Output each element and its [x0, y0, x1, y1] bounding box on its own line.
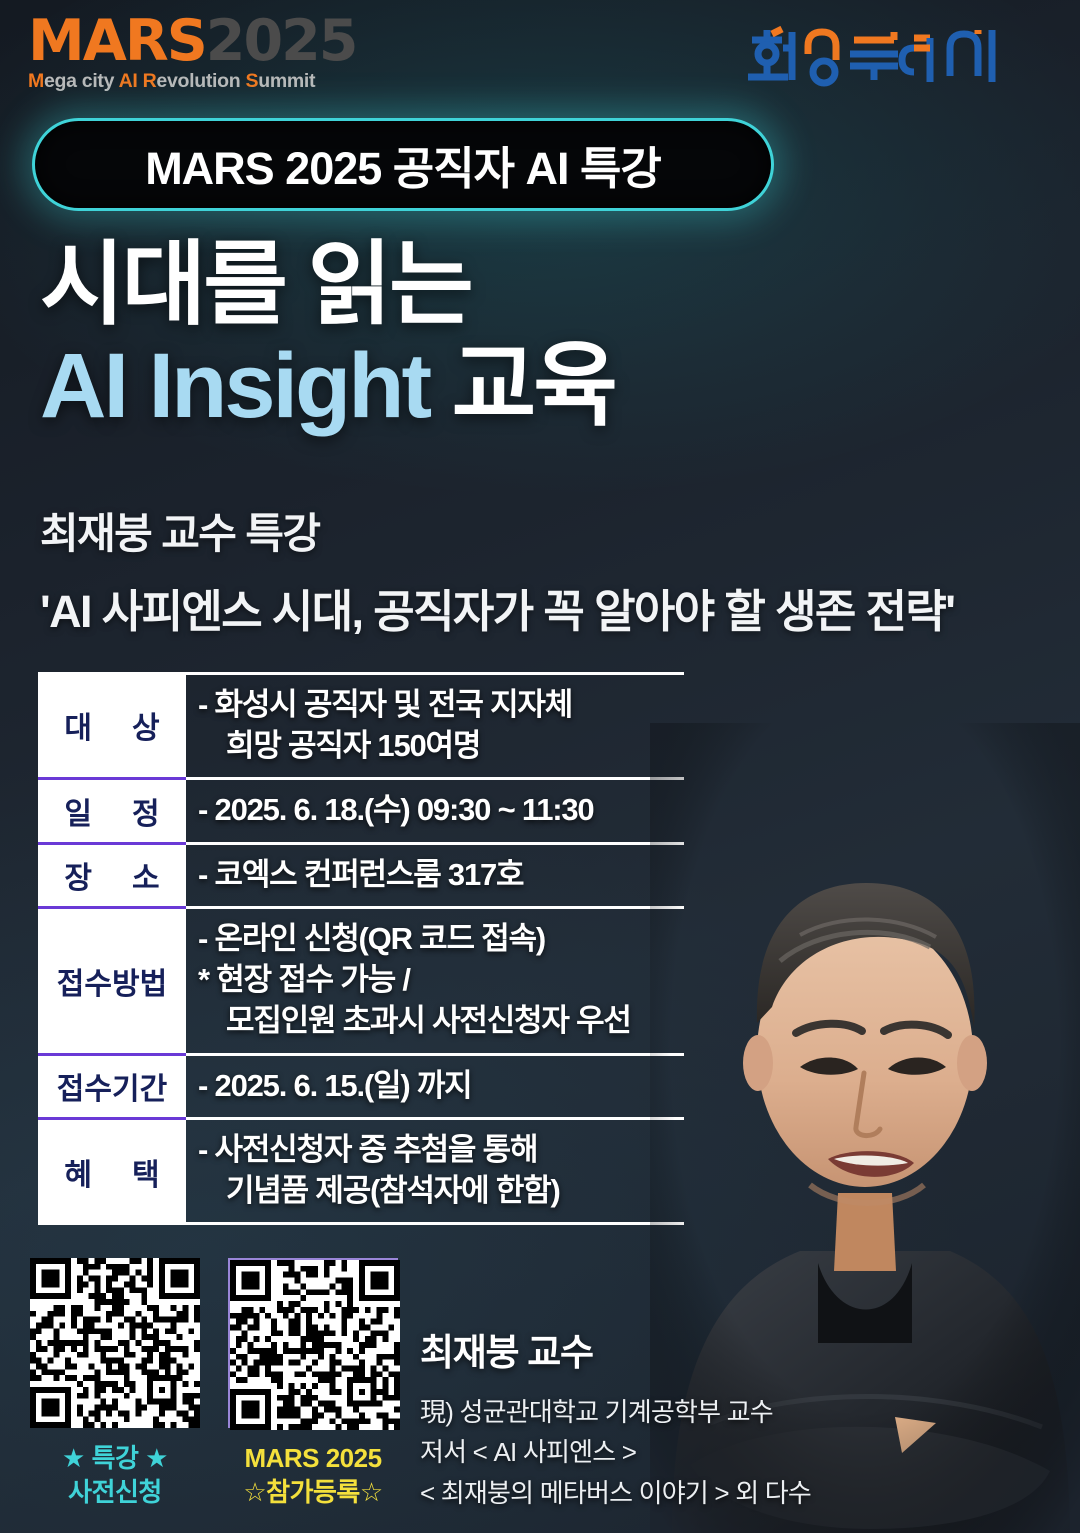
- poster-root: MARS2025 Mega city AI Revolution Summit: [0, 0, 1080, 1533]
- mars-logo-tagline: Mega city AI Revolution Summit: [28, 70, 356, 93]
- qr-caption-line-1: ★ 특강 ★: [62, 1441, 168, 1475]
- label-char-right: 상: [132, 703, 160, 747]
- event-title-badge: MARS 2025 공직자 AI 특강: [32, 118, 774, 211]
- event-info-row: 장소- 코엑스 컨퍼런스룸 317호: [38, 845, 684, 909]
- headline-line-1: 시대를 읽는: [40, 236, 940, 335]
- headline: 시대를 읽는 AI Insight 교육: [40, 236, 940, 437]
- mars2025-participation-qr-item: MARS 2025☆참가등록☆: [228, 1258, 398, 1510]
- event-info-value-line: - 화성시 공직자 및 전국 지자체: [198, 684, 684, 725]
- event-info-row-value: - 사전신청자 중 추첨을 통해기념품 제공(참석자에 한함): [186, 1120, 684, 1225]
- label-char-left: 일: [64, 789, 92, 833]
- mars-logo: MARS2025 Mega city AI Revolution Summit: [28, 14, 356, 93]
- event-info-row-label: 일정: [38, 780, 186, 844]
- subtitle-line-2: 'AI 사피엔스 시대, 공직자가 꼭 알아야 할 생존 전략': [40, 575, 1060, 640]
- label-char-right: 소: [132, 853, 160, 897]
- label-char-left: 혜: [64, 1150, 92, 1194]
- event-info-row: 혜택- 사전신청자 중 추첨을 통해기념품 제공(참석자에 한함): [38, 1120, 684, 1225]
- lecture-preregistration-qr[interactable]: [30, 1258, 200, 1428]
- mars-tagline-part: evolution: [156, 70, 245, 92]
- mars-logo-mars-text: MARS: [28, 8, 206, 74]
- subtitle-line-1: 최재붕 교수 특강: [40, 500, 1060, 561]
- label-char-right: 정: [132, 789, 160, 833]
- lecture-preregistration-qr-item: ★ 특강 ★사전신청: [30, 1258, 200, 1510]
- headline-highlight: AI Insight: [40, 335, 429, 437]
- label-char-right: 택: [132, 1150, 160, 1194]
- event-info-value-line: - 코엑스 컨퍼런스룸 317호: [198, 854, 684, 895]
- event-info-row-label: 장소: [38, 845, 186, 909]
- qr-code-block: ★ 특강 ★사전신청MARS 2025☆참가등록☆: [30, 1258, 398, 1510]
- mars-tagline-part: I: [132, 70, 137, 92]
- event-info-row-value: - 화성시 공직자 및 전국 지자체희망 공직자 150여명: [186, 672, 684, 780]
- hwaseong-city-logo: [738, 18, 1058, 94]
- event-info-row: 일정- 2025. 6. 18.(수) 09:30 ~ 11:30: [38, 780, 684, 844]
- event-info-row-value: - 2025. 6. 18.(수) 09:30 ~ 11:30: [186, 780, 684, 844]
- event-info-value-line: * 현장 접수 가능 /: [198, 959, 684, 1000]
- event-info-row: 접수기간- 2025. 6. 15.(일) 까지: [38, 1056, 684, 1120]
- event-info-row-value: - 코엑스 컨퍼런스룸 317호: [186, 845, 684, 909]
- qr-caption-line-2: 사전신청: [62, 1475, 168, 1509]
- mars2025-participation-qr[interactable]: [228, 1258, 398, 1428]
- label-char-left: 대: [64, 703, 92, 747]
- qr-caption-line-2: ☆참가등록☆: [243, 1475, 382, 1509]
- event-info-value-line: - 2025. 6. 18.(수) 09:30 ~ 11:30: [198, 789, 684, 830]
- event-title-badge-text: MARS 2025 공직자 AI 특강: [145, 132, 661, 197]
- event-info-row-label: 대상: [38, 672, 186, 780]
- mars-tagline-part: A: [119, 70, 133, 92]
- speaker-bio-lines: 現) 성균관대학교 기계공학부 교수저서 < AI 사피엔스 >< 최재붕의 메…: [420, 1392, 940, 1513]
- event-info-row: 대상- 화성시 공직자 및 전국 지자체희망 공직자 150여명: [38, 672, 684, 780]
- event-info-table: 대상- 화성시 공직자 및 전국 지자체희망 공직자 150여명일정- 2025…: [38, 672, 684, 1225]
- event-info-row-label: 접수방법: [38, 909, 186, 1056]
- mars-logo-year-text: 2025: [206, 8, 357, 74]
- headline-line-2-rest: 교육: [452, 335, 615, 437]
- mars-tagline-part: M: [28, 70, 44, 92]
- speaker-bio-line: 現) 성균관대학교 기계공학부 교수: [420, 1392, 940, 1432]
- label-char-left: 장: [64, 853, 92, 897]
- mars-tagline-part: R: [143, 70, 157, 92]
- lecture-preregistration-qr-caption: ★ 특강 ★사전신청: [62, 1441, 168, 1510]
- headline-line-2: AI Insight 교육: [40, 337, 940, 436]
- event-info-row-label: 혜택: [38, 1120, 186, 1225]
- subtitle: 최재붕 교수 특강 'AI 사피엔스 시대, 공직자가 꼭 알아야 할 생존 전…: [40, 500, 1060, 640]
- mars-tagline-part: ummit: [258, 70, 315, 92]
- qr-caption-line-1: MARS 2025: [243, 1441, 382, 1475]
- event-info-row: 접수방법- 온라인 신청(QR 코드 접속)* 현장 접수 가능 /모집인원 초…: [38, 909, 684, 1056]
- mars-tagline-part: S: [246, 70, 259, 92]
- speaker-bio-line: < 최재붕의 메타버스 이야기 > 외 다수: [420, 1473, 940, 1513]
- speaker-bio-line: 저서 < AI 사피엔스 >: [420, 1432, 940, 1472]
- event-info-value-line: 모집인원 초과시 사전신청자 우선: [198, 1000, 684, 1041]
- mars-tagline-part: ega city: [44, 70, 119, 92]
- event-info-row-label: 접수기간: [38, 1056, 186, 1120]
- event-info-value-line: 희망 공직자 150여명: [198, 725, 684, 766]
- event-info-value-line: - 온라인 신청(QR 코드 접속): [198, 918, 684, 959]
- event-info-value-line: - 2025. 6. 15.(일) 까지: [198, 1065, 684, 1106]
- event-info-value-line: 기념품 제공(참석자에 한함): [198, 1170, 684, 1211]
- mars-logo-wordmark: MARS2025: [28, 14, 356, 68]
- speaker-name: 최재붕 교수: [420, 1322, 940, 1376]
- mars2025-participation-qr-caption: MARS 2025☆참가등록☆: [243, 1441, 382, 1510]
- event-info-row-value: - 2025. 6. 15.(일) 까지: [186, 1056, 684, 1120]
- event-info-row-value: - 온라인 신청(QR 코드 접속)* 현장 접수 가능 /모집인원 초과시 사…: [186, 909, 684, 1056]
- event-info-value-line: - 사전신청자 중 추첨을 통해: [198, 1129, 684, 1170]
- speaker-bio: 최재붕 교수 現) 성균관대학교 기계공학부 교수저서 < AI 사피엔스 ><…: [420, 1322, 940, 1513]
